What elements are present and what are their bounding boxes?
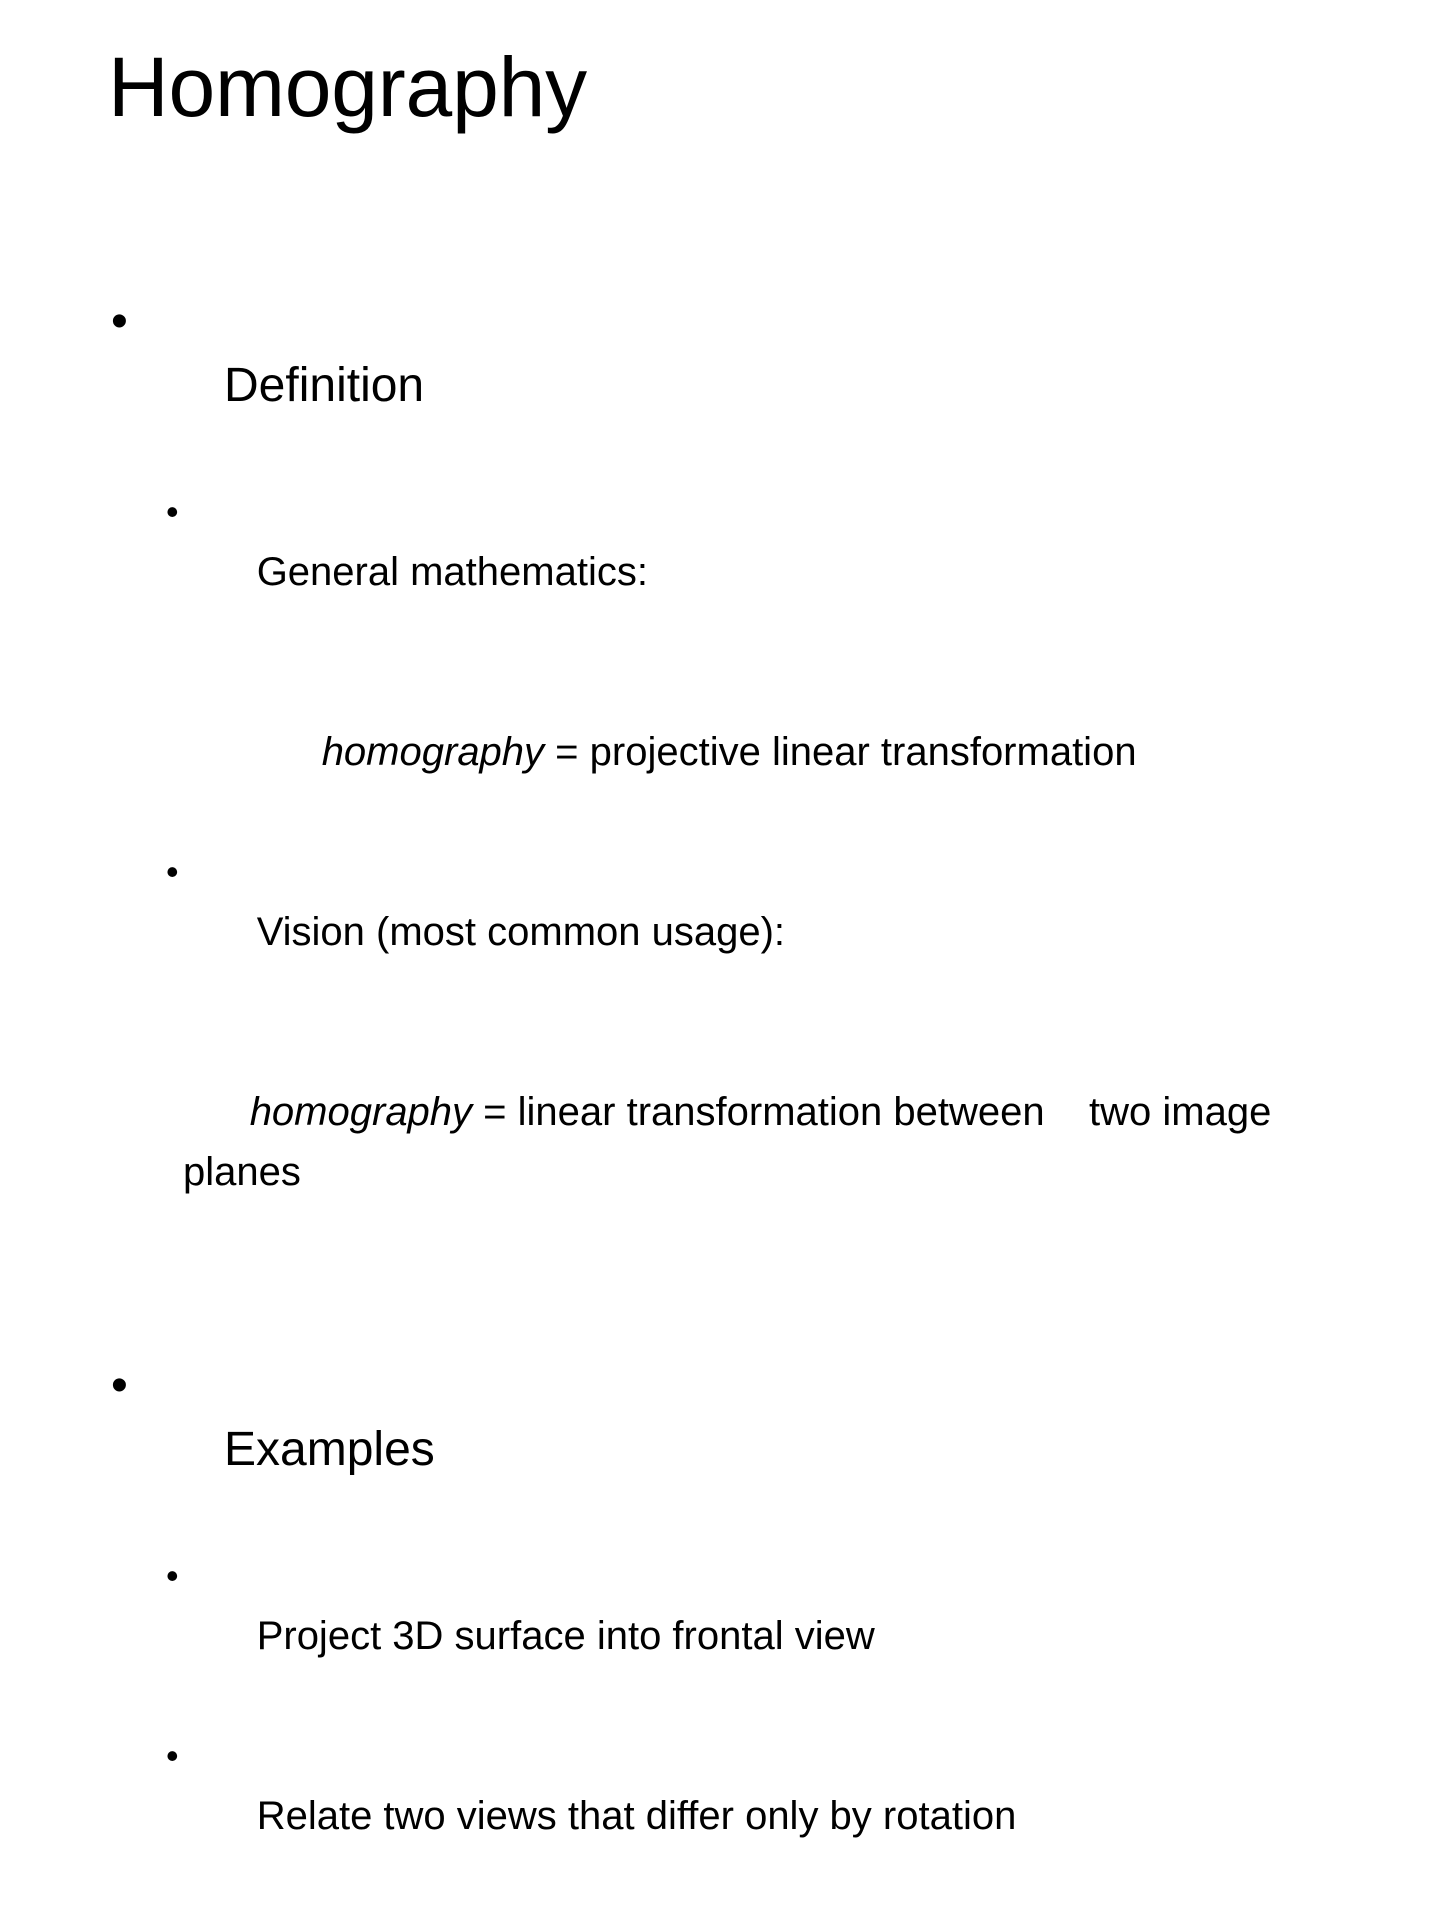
- detail-general-mathematics: homography = projective linear transform…: [108, 662, 1368, 842]
- bullet-example-relate: •Relate two views that differ only by ro…: [108, 1726, 1368, 1906]
- bullet-dot-icon: •: [111, 1354, 141, 1418]
- detail-general-rest: = projective linear transformation: [544, 730, 1137, 774]
- detail-general-emphasis: homography: [322, 730, 544, 774]
- bullet-example-project-label: Project 3D surface into frontal view: [257, 1614, 875, 1658]
- bullet-examples: •Examples: [108, 1354, 1368, 1546]
- blank-paragraph: [108, 1262, 1368, 1354]
- slide-body: •Definition •General mathematics: homogr…: [108, 290, 1368, 1906]
- bullet-dot-icon: •: [166, 842, 192, 902]
- bullet-examples-label: Examples: [224, 1423, 435, 1476]
- bullet-dot-icon: •: [166, 1726, 192, 1786]
- bullet-vision: •Vision (most common usage):: [108, 842, 1368, 1022]
- detail-vision-emphasis: homography: [250, 1090, 472, 1134]
- slide-canvas: Homography •Definition •General mathemat…: [0, 0, 1440, 1080]
- bullet-dot-icon: •: [166, 1546, 192, 1606]
- detail-vision: homography = linear transformation betwe…: [108, 1022, 1368, 1262]
- bullet-definition: •Definition: [108, 290, 1368, 482]
- bullet-general-mathematics: •General mathematics:: [108, 482, 1368, 662]
- slide-title: Homography: [108, 42, 1348, 133]
- bullet-vision-label: Vision (most common usage):: [257, 910, 785, 954]
- bullet-definition-label: Definition: [224, 359, 424, 412]
- bullet-example-relate-label: Relate two views that differ only by rot…: [257, 1794, 1017, 1838]
- bullet-example-project: •Project 3D surface into frontal view: [108, 1546, 1368, 1726]
- bullet-dot-icon: •: [166, 482, 192, 542]
- bullet-dot-icon: •: [111, 290, 141, 354]
- bullet-general-mathematics-label: General mathematics:: [257, 550, 648, 594]
